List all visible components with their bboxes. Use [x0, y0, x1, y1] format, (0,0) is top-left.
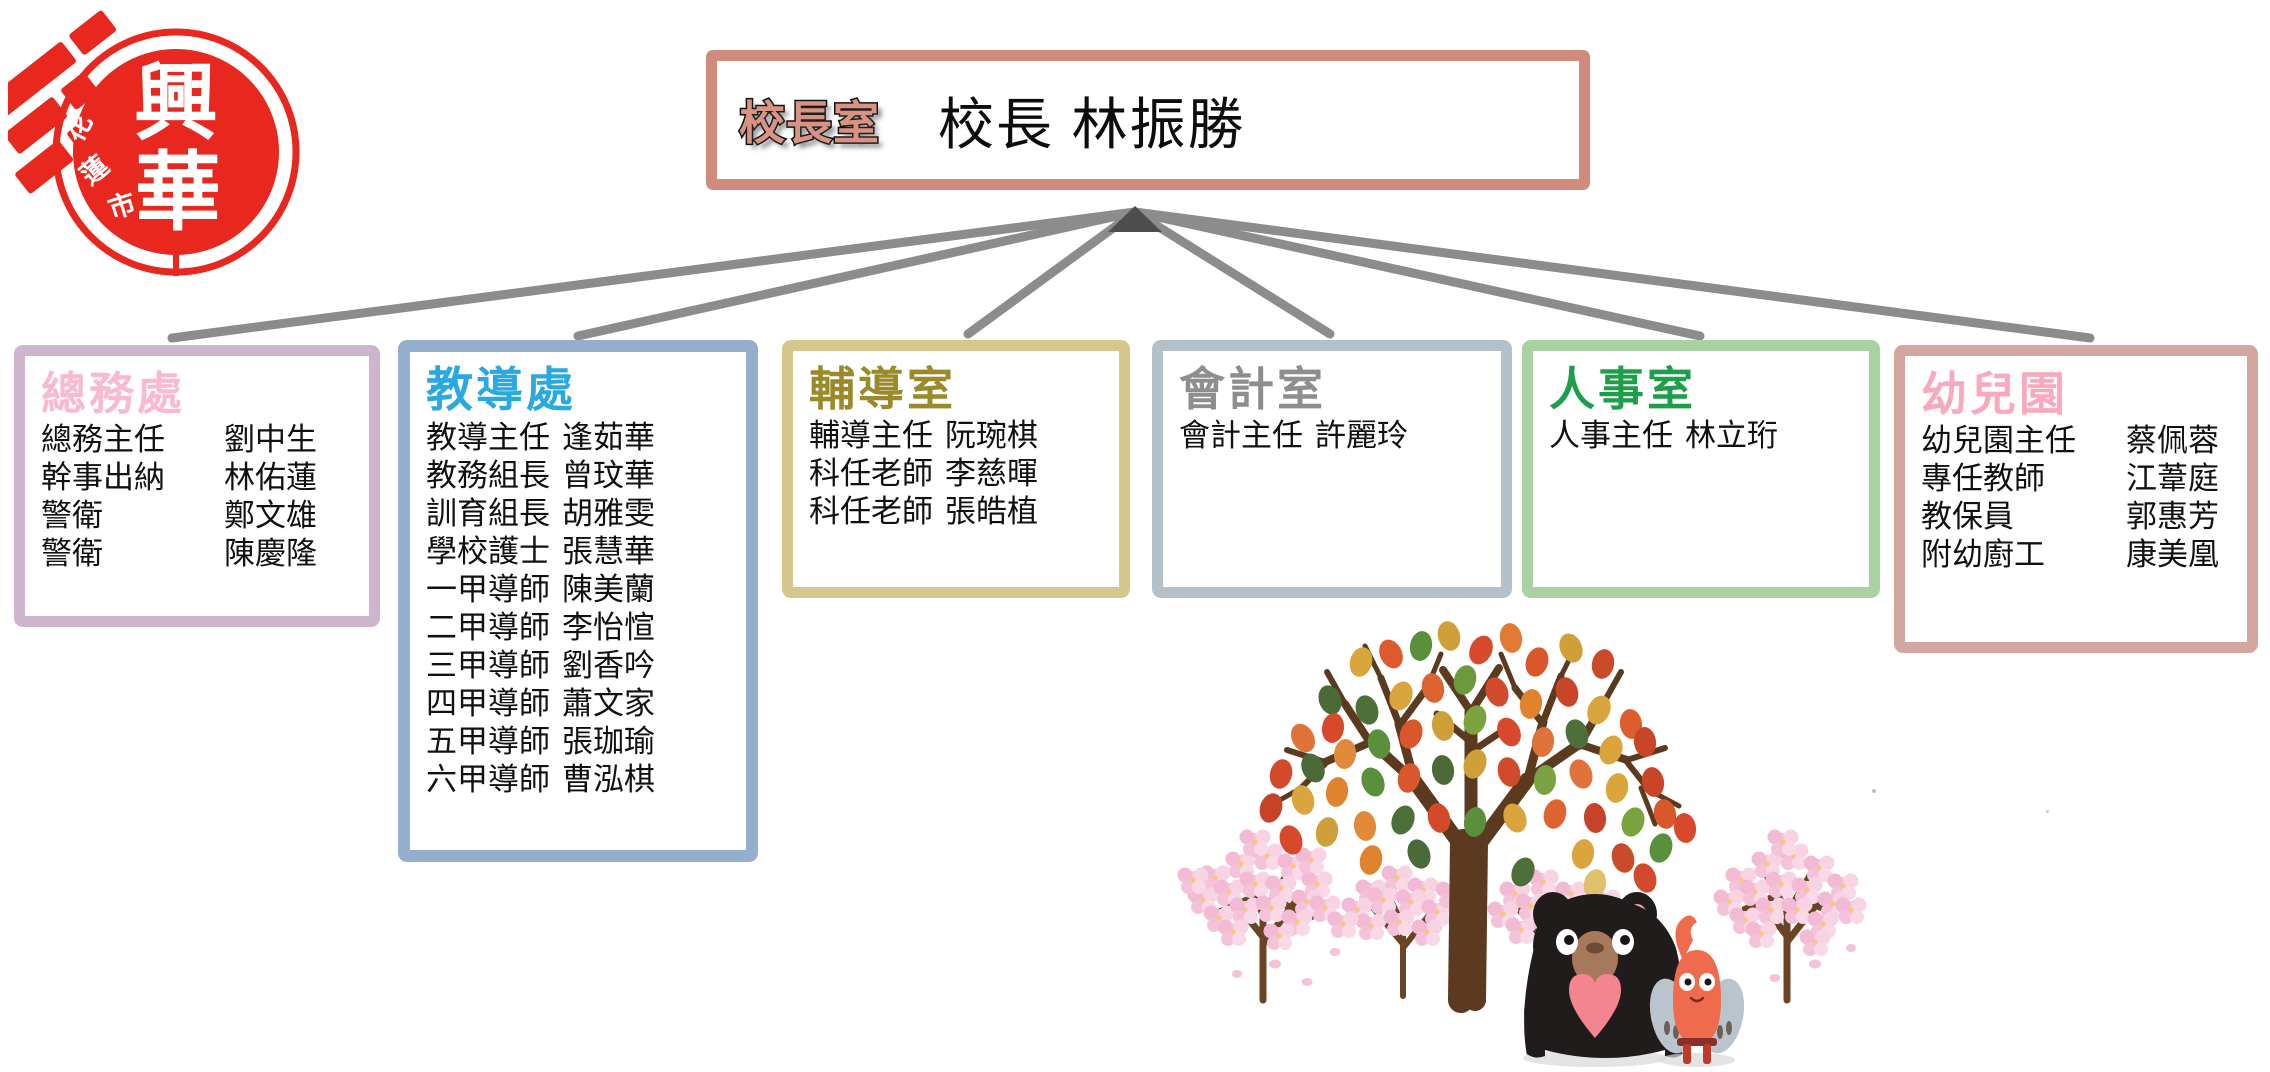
stray-dot-2: [2046, 810, 2049, 813]
svg-text:華: 華: [135, 143, 221, 243]
staff-person: 李怡愃: [562, 609, 655, 647]
staff-row: 三甲導師劉香吟: [426, 647, 732, 685]
department-box-counseling[interactable]: 輔導室輔導主任阮琬棋科任老師李慈暉科任老師張皓植: [782, 340, 1130, 598]
department-content: 會計室會計主任許麗玲: [1163, 361, 1501, 457]
staff-role: 警衛: [41, 535, 224, 573]
staff-list: 幼兒園主任蔡佩蓉專任教師江葦庭教保員郭惠芳附幼廚工康美凰: [1921, 422, 2233, 574]
cherry-blossom-tree-right: [1714, 830, 1867, 1001]
staff-role: 教導主任: [426, 419, 550, 457]
staff-list: 人事主任林立珩: [1549, 417, 1855, 455]
department-box-academic-affairs[interactable]: 教導處教導主任逢茹華教務組長曾玟華訓育組長胡雅雯學校護士張慧華一甲導師陳美蘭二甲…: [398, 340, 758, 862]
staff-person: 曹泓棋: [562, 761, 655, 799]
staff-list: 總務主任劉中生幹事出納林佑蓮警衛鄭文雄警衛陳慶隆: [41, 421, 355, 573]
department-title-personnel: 人事室: [1549, 365, 1855, 413]
department-content: 總務處總務主任劉中生幹事出納林佑蓮警衛鄭文雄警衛陳慶隆: [25, 366, 369, 575]
staff-person: 張珈瑜: [562, 723, 655, 761]
department-box-accounting[interactable]: 會計室會計主任許麗玲: [1152, 340, 1512, 598]
staff-role: 附幼廚工: [1921, 536, 2126, 574]
staff-row: 幼兒園主任蔡佩蓉: [1921, 422, 2233, 460]
staff-person: 張皓植: [945, 493, 1038, 531]
department-box-general-affairs[interactable]: 總務處總務主任劉中生幹事出納林佑蓮警衛鄭文雄警衛陳慶隆: [14, 345, 380, 627]
staff-role: 會計主任: [1179, 417, 1303, 455]
staff-row: 四甲導師蕭文家: [426, 685, 732, 723]
staff-role: 教務組長: [426, 457, 550, 495]
staff-row: 附幼廚工康美凰: [1921, 536, 2233, 574]
staff-person: 劉中生: [224, 421, 317, 459]
department-box-personnel[interactable]: 人事室人事主任林立珩: [1522, 340, 1880, 598]
staff-role: 警衛: [41, 497, 224, 535]
staff-row: 人事主任林立珩: [1549, 417, 1855, 455]
staff-row: 二甲導師李怡愃: [426, 609, 732, 647]
staff-role: 五甲導師: [426, 723, 550, 761]
staff-list: 輔導主任阮琬棋科任老師李慈暉科任老師張皓植: [809, 417, 1105, 531]
staff-person: 康美凰: [2126, 536, 2219, 574]
staff-person: 逢茹華: [562, 419, 655, 457]
svg-text:興: 興: [134, 54, 218, 152]
staff-person: 江葦庭: [2126, 460, 2219, 498]
staff-person: 劉香吟: [562, 647, 655, 685]
staff-person: 胡雅雯: [562, 495, 655, 533]
staff-person: 許麗玲: [1315, 417, 1408, 455]
staff-row: 訓育組長胡雅雯: [426, 495, 732, 533]
school-emblem-logo: 興 華 花 蓮 市: [8, 4, 308, 289]
department-title-general-affairs: 總務處: [41, 370, 355, 417]
org-chart-canvas: 興 華 花 蓮 市 校長室 校長 林振勝 總務處總務主任劉中生幹事出納林佑蓮警衛…: [0, 0, 2270, 1072]
staff-person: 鄭文雄: [224, 497, 317, 535]
cherry-blossom-tree-mid: [1328, 866, 1467, 997]
staff-role: 幹事出納: [41, 459, 224, 497]
department-content: 輔導室輔導主任阮琬棋科任老師李慈暉科任老師張皓植: [793, 361, 1119, 533]
staff-person: 阮琬棋: [945, 417, 1038, 455]
staff-row: 科任老師張皓植: [809, 493, 1105, 531]
staff-row: 警衛陳慶隆: [41, 535, 355, 573]
staff-row: 教導主任逢茹華: [426, 419, 732, 457]
principal-office-label: 校長室: [739, 87, 880, 153]
staff-person: 陳慶隆: [224, 535, 317, 573]
stray-dot-1: [1872, 789, 1876, 793]
staff-person: 郭惠芳: [2126, 498, 2219, 536]
department-title-counseling: 輔導室: [809, 365, 1105, 413]
department-box-kindergarten[interactable]: 幼兒園幼兒園主任蔡佩蓉專任教師江葦庭教保員郭惠芳附幼廚工康美凰: [1894, 345, 2258, 653]
staff-list: 教導主任逢茹華教務組長曾玟華訓育組長胡雅雯學校護士張慧華一甲導師陳美蘭二甲導師李…: [426, 419, 732, 799]
staff-role: 三甲導師: [426, 647, 550, 685]
staff-role: 幼兒園主任: [1921, 422, 2126, 460]
staff-person: 蕭文家: [562, 685, 655, 723]
principal-office-box[interactable]: 校長室 校長 林振勝: [706, 50, 1590, 190]
staff-person: 李慈暉: [945, 455, 1038, 493]
staff-role: 人事主任: [1549, 417, 1673, 455]
department-title-accounting: 會計室: [1179, 365, 1487, 413]
cherry-blossom-tree-left: [1178, 830, 1341, 1001]
principal-name-text: 校長 林振勝: [938, 80, 1246, 161]
staff-row: 專任教師江葦庭: [1921, 460, 2233, 498]
staff-role: 訓育組長: [426, 495, 550, 533]
staff-row: 科任老師李慈暉: [809, 455, 1105, 493]
staff-role: 一甲導師: [426, 571, 550, 609]
staff-row: 教保員郭惠芳: [1921, 498, 2233, 536]
staff-role: 科任老師: [809, 455, 933, 493]
staff-role: 專任教師: [1921, 460, 2126, 498]
department-content: 教導處教導主任逢茹華教務組長曾玟華訓育組長胡雅雯學校護士張慧華一甲導師陳美蘭二甲…: [410, 362, 746, 801]
staff-row: 五甲導師張珈瑜: [426, 723, 732, 761]
staff-person: 蔡佩蓉: [2126, 422, 2219, 460]
autumn-tree-bear-illustration: [1175, 592, 1895, 1072]
staff-person: 曾玟華: [562, 457, 655, 495]
staff-row: 一甲導師陳美蘭: [426, 571, 732, 609]
staff-role: 總務主任: [41, 421, 224, 459]
staff-person: 林立珩: [1685, 417, 1778, 455]
staff-role: 六甲導師: [426, 761, 550, 799]
staff-person: 陳美蘭: [562, 571, 655, 609]
staff-row: 會計主任許麗玲: [1179, 417, 1487, 455]
staff-person: 張慧華: [562, 533, 655, 571]
staff-row: 幹事出納林佑蓮: [41, 459, 355, 497]
staff-list: 會計主任許麗玲: [1179, 417, 1487, 455]
department-content: 人事室人事主任林立珩: [1533, 361, 1869, 457]
staff-role: 四甲導師: [426, 685, 550, 723]
staff-role: 教保員: [1921, 498, 2126, 536]
staff-row: 警衛鄭文雄: [41, 497, 355, 535]
staff-row: 輔導主任阮琬棋: [809, 417, 1105, 455]
department-title-kindergarten: 幼兒園: [1921, 370, 2233, 418]
staff-row: 學校護士張慧華: [426, 533, 732, 571]
staff-person: 林佑蓮: [224, 459, 317, 497]
staff-row: 總務主任劉中生: [41, 421, 355, 459]
staff-role: 二甲導師: [426, 609, 550, 647]
department-content: 幼兒園幼兒園主任蔡佩蓉專任教師江葦庭教保員郭惠芳附幼廚工康美凰: [1905, 366, 2247, 576]
staff-role: 輔導主任: [809, 417, 933, 455]
staff-row: 教務組長曾玟華: [426, 457, 732, 495]
staff-role: 學校護士: [426, 533, 550, 571]
department-title-academic-affairs: 教導處: [426, 366, 732, 415]
staff-row: 六甲導師曹泓棋: [426, 761, 732, 799]
staff-role: 科任老師: [809, 493, 933, 531]
